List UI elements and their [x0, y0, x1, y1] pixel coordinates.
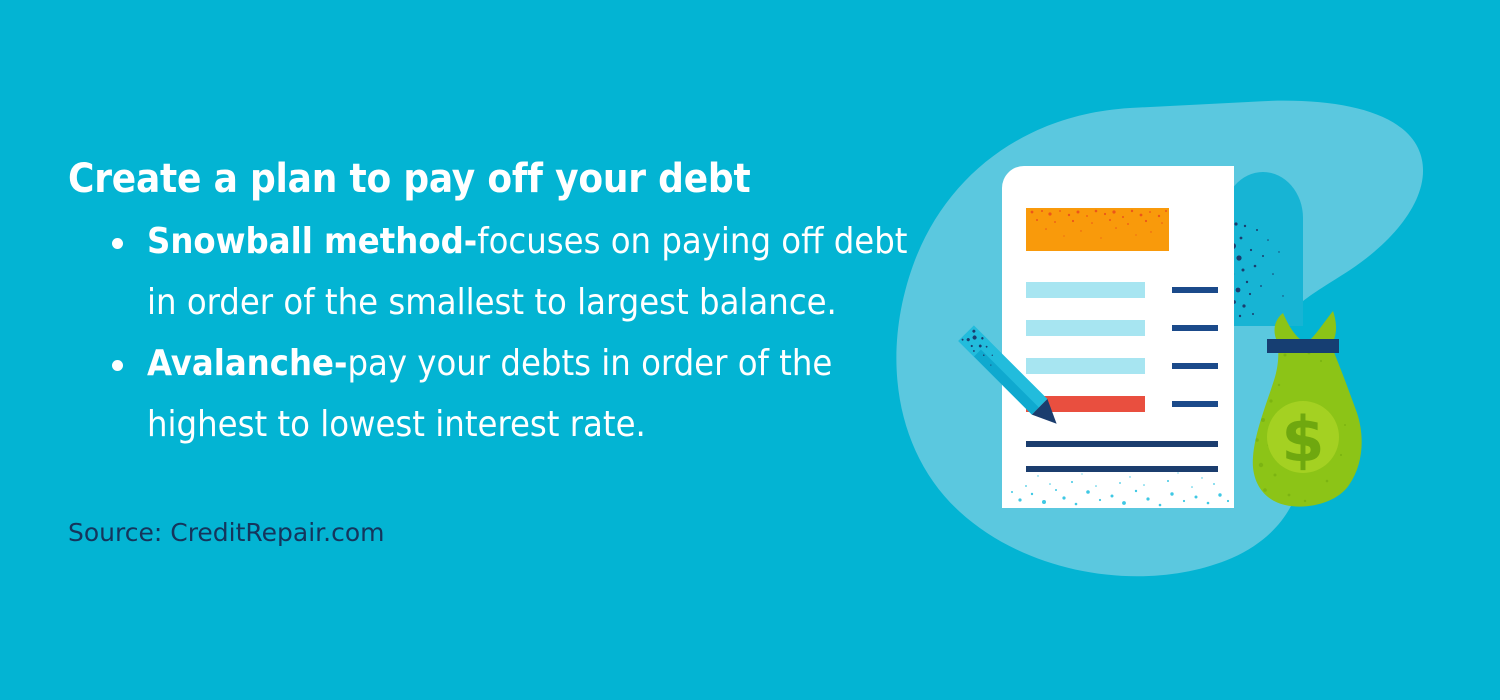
dollar-sign-icon: $ — [1281, 403, 1324, 476]
page-title: Create a plan to pay off your debt — [68, 155, 928, 203]
text-content-block: Create a plan to pay off your debt Snowb… — [68, 155, 928, 455]
document-header-bar — [1026, 208, 1169, 251]
source-attribution: Source: CreditRepair.com — [68, 518, 385, 548]
money-bag-band — [1267, 339, 1339, 353]
infographic-canvas: Create a plan to pay off your debt Snowb… — [0, 0, 1500, 700]
document-dash — [1172, 401, 1218, 407]
list-item: Avalanche-pay your debts in order of the… — [68, 333, 928, 455]
document-curl-flap — [1223, 166, 1303, 326]
money-bag-icon: $ — [1245, 305, 1365, 510]
pencil-icon — [930, 300, 1080, 450]
method-bullet-list: Snowball method-focuses on paying off de… — [68, 211, 928, 455]
document-bottom-speckle — [1002, 456, 1234, 508]
bullet-term-snowball: Snowball method- — [147, 221, 477, 262]
document-dash — [1172, 325, 1218, 331]
document-dash — [1172, 287, 1218, 293]
orange-bar-speckle — [1026, 208, 1169, 251]
document-dash — [1172, 363, 1218, 369]
debt-payoff-document-illustration: $ — [880, 100, 1460, 600]
document-row — [1026, 282, 1145, 298]
bullet-term-avalanche: Avalanche- — [147, 343, 347, 384]
list-item: Snowball method-focuses on paying off de… — [68, 211, 928, 333]
